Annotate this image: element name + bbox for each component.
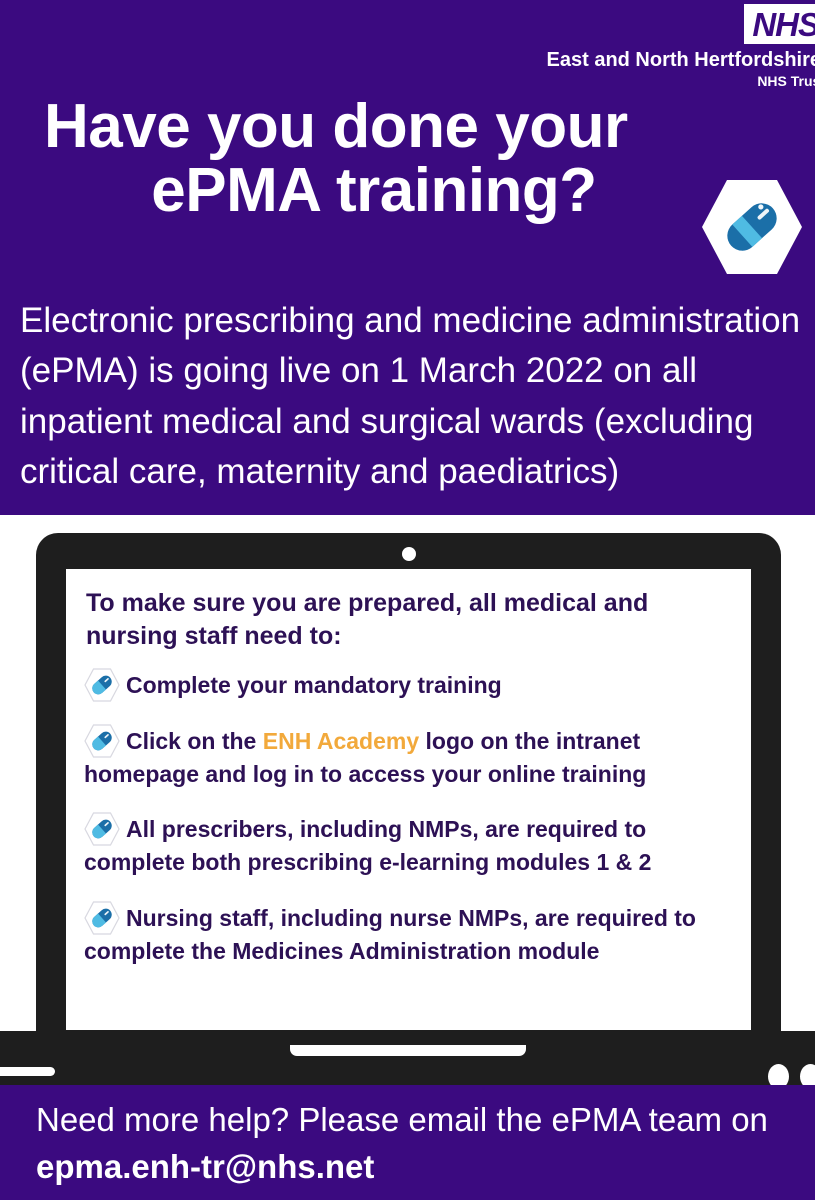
epma-email-link[interactable]: epma.enh-tr@nhs.net bbox=[36, 1148, 374, 1185]
intro-paragraph: Electronic prescribing and medicine admi… bbox=[20, 296, 815, 498]
list-item-label: All prescribers, including NMPs, are req… bbox=[84, 816, 651, 875]
trackpad-notch-icon bbox=[290, 1045, 526, 1056]
screen-content: To make sure you are prepared, all medic… bbox=[84, 587, 739, 1026]
pill-capsule-hexagon-icon bbox=[700, 178, 804, 276]
list-item: Click on the ENH Academy logo on the int… bbox=[84, 724, 739, 791]
laptop-lid: To make sure you are prepared, all medic… bbox=[36, 533, 781, 1038]
list-item-label: Complete your mandatory training bbox=[126, 672, 502, 698]
webcam-dot-icon bbox=[402, 547, 416, 561]
top-purple-panel: NHS East and North Hertfordshire NHS Tru… bbox=[0, 0, 815, 515]
nhs-trust-logo: NHS East and North Hertfordshire NHS Tru… bbox=[547, 4, 815, 89]
list-item: Nursing staff, including nurse NMPs, are… bbox=[84, 901, 739, 968]
footer-lead-text: Need more help? Please email the ePMA te… bbox=[36, 1101, 768, 1138]
pill-capsule-hexagon-icon bbox=[84, 901, 120, 935]
footer-text: Need more help? Please email the ePMA te… bbox=[36, 1097, 806, 1191]
list-item-label-before: Click on the bbox=[126, 728, 263, 754]
list-item-label: Nursing staff, including nurse NMPs, are… bbox=[84, 905, 696, 964]
epma-training-poster: NHS East and North Hertfordshire NHS Tru… bbox=[0, 0, 815, 1200]
list-item: Complete your mandatory training bbox=[84, 668, 739, 702]
pill-capsule-hexagon-icon bbox=[84, 668, 120, 702]
enh-academy-link[interactable]: ENH Academy bbox=[263, 728, 419, 754]
screen-heading: To make sure you are prepared, all medic… bbox=[84, 587, 739, 654]
list-item: All prescribers, including NMPs, are req… bbox=[84, 812, 739, 879]
nhs-wordmark: NHS bbox=[744, 4, 815, 44]
pill-capsule-hexagon-icon bbox=[84, 812, 120, 846]
footer-contact-band: Need more help? Please email the ePMA te… bbox=[0, 1085, 815, 1200]
page-title: Have you done your ePMA training? bbox=[44, 95, 744, 224]
nhs-trust-name: East and North Hertfordshire bbox=[547, 49, 815, 71]
checklist: Complete your mandatory training bbox=[84, 668, 739, 968]
nhs-trust-subtitle: NHS Trust bbox=[547, 74, 815, 89]
laptop-left-edge-strip bbox=[0, 1067, 55, 1076]
laptop-screen: To make sure you are prepared, all medic… bbox=[66, 569, 751, 1030]
headline-line-2: ePMA training? bbox=[44, 159, 744, 223]
pill-capsule-hexagon-icon bbox=[84, 724, 120, 758]
headline-line-1: Have you done your bbox=[44, 92, 628, 161]
laptop-illustration: To make sure you are prepared, all medic… bbox=[0, 515, 815, 1085]
